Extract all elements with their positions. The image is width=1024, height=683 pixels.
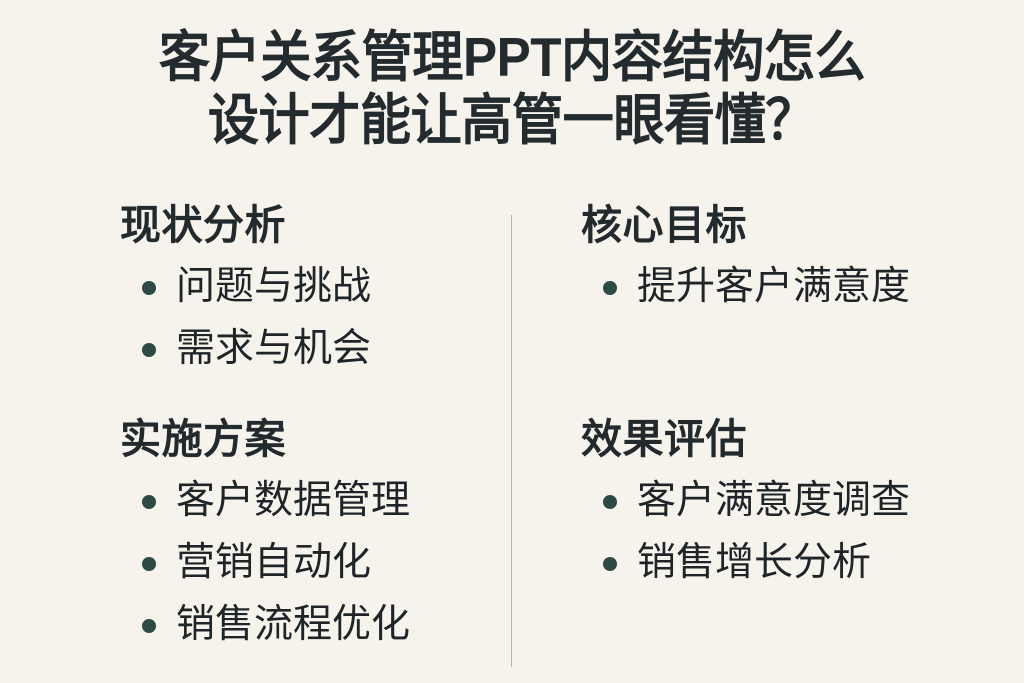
bullet-dot-icon <box>142 557 156 571</box>
list-item: 销售增长分析 <box>581 532 1011 594</box>
list-item: 提升客户满意度 <box>581 256 1011 318</box>
page-title: 客户关系管理PPT内容结构怎么 设计才能让高管一眼看懂？ <box>0 26 1024 152</box>
content-columns: 现状分析 问题与挑战 需求与机会 实施方案 <box>0 196 1024 666</box>
bullet-list: 问题与挑战 需求与机会 <box>120 256 550 380</box>
list-item: 客户满意度调查 <box>581 470 1011 532</box>
section-effect-evaluation: 效果评估 客户满意度调查 销售增长分析 <box>581 414 1011 594</box>
bullet-dot-icon <box>603 495 617 509</box>
list-item-label: 客户满意度调查 <box>637 470 910 532</box>
list-item: 客户数据管理 <box>120 470 550 532</box>
section-heading: 核心目标 <box>581 200 1011 250</box>
section-core-goals: 核心目标 提升客户满意度 <box>581 200 1011 318</box>
list-item-label: 问题与挑战 <box>176 256 371 318</box>
list-item: 销售流程优化 <box>120 594 550 656</box>
list-item-label: 营销自动化 <box>176 532 371 594</box>
bullet-dot-icon <box>142 495 156 509</box>
bullet-dot-icon <box>603 281 617 295</box>
page-title-line-2: 设计才能让高管一眼看懂？ <box>36 89 988 152</box>
list-item-label: 销售流程优化 <box>176 594 410 656</box>
list-item-label: 提升客户满意度 <box>637 256 910 318</box>
list-item-label: 需求与机会 <box>176 318 371 380</box>
page-title-line-1: 客户关系管理PPT内容结构怎么 <box>36 26 988 89</box>
column-right: 核心目标 提升客户满意度 效果评估 客户满意度调查 <box>581 196 1011 594</box>
section-implementation-plan: 实施方案 客户数据管理 营销自动化 销售流程优化 <box>120 414 550 656</box>
list-item: 需求与机会 <box>120 318 550 380</box>
list-item-label: 销售增长分析 <box>637 532 871 594</box>
bullet-dot-icon <box>142 619 156 633</box>
bullet-list: 客户满意度调查 销售增长分析 <box>581 470 1011 594</box>
column-left: 现状分析 问题与挑战 需求与机会 实施方案 <box>120 196 550 656</box>
section-heading: 效果评估 <box>581 414 1011 464</box>
bullet-dot-icon <box>142 343 156 357</box>
bullet-list: 提升客户满意度 <box>581 256 1011 318</box>
bullet-dot-icon <box>603 557 617 571</box>
section-current-analysis: 现状分析 问题与挑战 需求与机会 <box>120 200 550 380</box>
section-heading: 现状分析 <box>120 200 550 250</box>
list-item: 营销自动化 <box>120 532 550 594</box>
section-heading: 实施方案 <box>120 414 550 464</box>
slide-canvas: 客户关系管理PPT内容结构怎么 设计才能让高管一眼看懂？ 现状分析 问题与挑战 … <box>0 0 1024 683</box>
list-item: 问题与挑战 <box>120 256 550 318</box>
bullet-list: 客户数据管理 营销自动化 销售流程优化 <box>120 470 550 656</box>
list-item-label: 客户数据管理 <box>176 470 410 532</box>
bullet-dot-icon <box>142 281 156 295</box>
